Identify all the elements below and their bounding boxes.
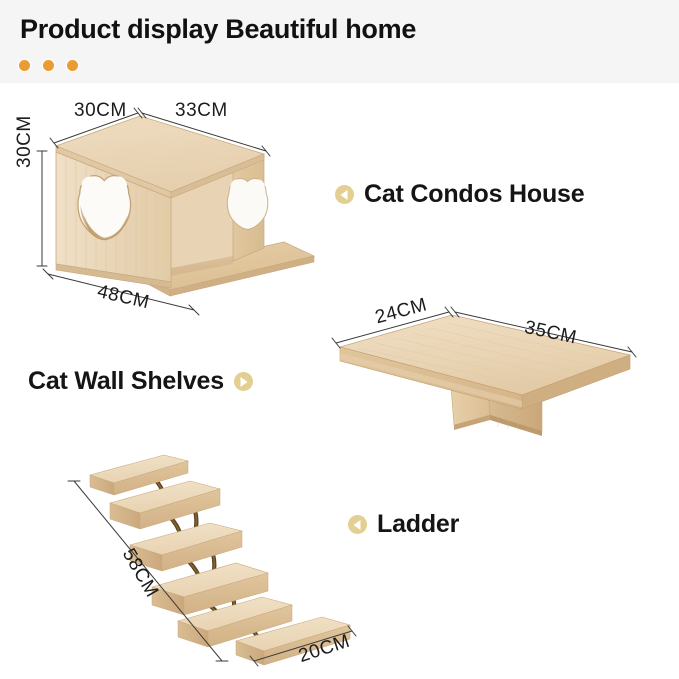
page-header: Product display Beautiful home [0,0,679,83]
triangle-right-icon [234,372,253,391]
dot-1 [19,60,30,71]
cat-condos-house-illustration [28,96,328,341]
triangle-left-icon [335,185,354,204]
product-label-ladder[interactable]: Ladder [348,510,459,539]
product-label-text: Cat Wall Shelves [28,367,224,396]
dot-indicators [19,60,78,71]
page-title: Product display Beautiful home [20,14,416,45]
dim-house-width: 33CM [175,100,228,122]
product-label-text: Ladder [377,510,459,539]
dim-house-height: 30CM [14,115,36,168]
triangle-left-icon [348,515,367,534]
product-display-page: Product display Beautiful home [0,0,679,679]
product-label-cat-wall-shelves[interactable]: Cat Wall Shelves [28,367,253,396]
product-label-text: Cat Condos House [364,180,584,209]
dot-3 [67,60,78,71]
dot-2 [43,60,54,71]
product-label-cat-condos-house[interactable]: Cat Condos House [335,180,584,209]
dim-house-depth: 30CM [74,100,127,122]
